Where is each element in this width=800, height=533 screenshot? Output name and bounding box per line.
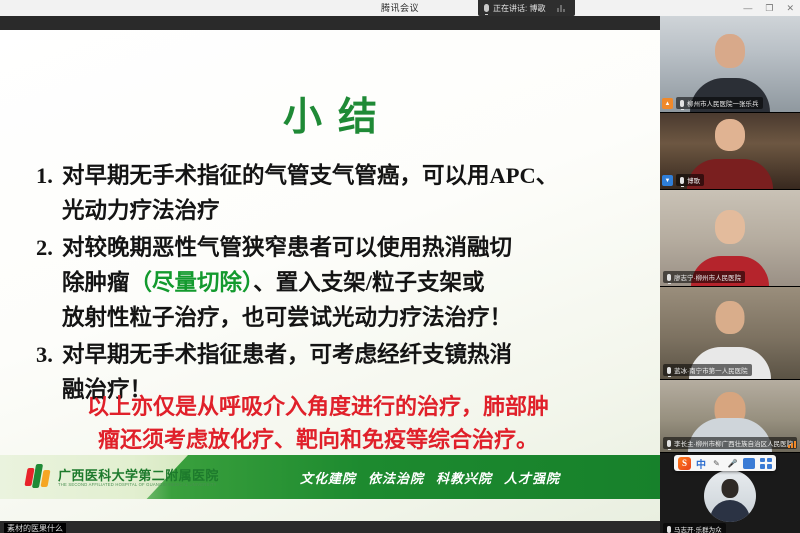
close-button[interactable]: ✕ [786,0,794,16]
participant-head [716,301,745,334]
bullet-line: 光动力疗法治疗 [62,193,610,228]
bullet-line: 对早期无手术指征的气管支气管癌，可以用APC、 [62,158,610,193]
bullet-line: 除肿瘤（尽量切除）、置入支架/粒子支架或 [62,265,610,300]
plain-text: 对较晚期恶性气管狭窄患者可以使用热消融切 [62,235,512,260]
screen-share-area: 小结 1.对早期无手术指征的气管支气管癌，可以用APC、光动力疗法治疗2.对较晚… [0,16,660,533]
plain-text: 光动力疗法治疗 [62,198,220,223]
participant-tile[interactable]: 廖志宁·柳州市人民医院 [660,189,800,286]
bullet-number: 1. [36,158,62,228]
microphone-icon [667,526,671,533]
participant-tile[interactable]: ▼博歌 [660,112,800,189]
network-signal-icon [788,441,796,448]
audio-wave-icon [557,4,565,12]
microphone-icon [667,367,671,374]
bullet-line: 放射性粒子治疗，也可尝试光动力疗法治疗！ [62,300,610,335]
highlighted-text: （尽量切除） [130,270,254,295]
window-controls: — ❐ ✕ [743,0,794,16]
ime-mic-icon[interactable]: 🎤 [727,458,738,469]
participant-tile[interactable]: ▲柳州市人民医院一张乐兵 [660,16,800,112]
participant-name-bar: 李长主·柳州市柳广西壮族自治区人民医院 [663,437,797,449]
active-speaker-label: 正在讲话: 博歌 [493,3,545,14]
participant-name: 廖志宁·柳州市人民医院 [674,272,741,282]
participant-name: 蓝冰·南宁市第一人民医院 [674,365,748,375]
plain-text: 对早期无手术指征患者，可考虑经纤支镜热消 [62,342,512,367]
ime-toolbar[interactable]: S中✎🎤 [674,455,776,471]
participant-name-bar: 廖志宁·柳州市人民医院 [663,271,745,283]
bullet-line: 对较晚期恶性气管狭窄患者可以使用热消融切 [62,230,610,265]
slogan-phrase: 文化建院 [300,471,356,486]
participant-name-bar: 博歌 [676,174,704,186]
hospital-logo-icon [26,464,52,490]
slide-footer-banner: 广西医科大学第二附属医院 THE SECOND AFFILIATED HOSPI… [0,455,660,499]
plain-text: 放射性粒子治疗，也可尝试光动力疗法治疗！ [62,305,512,330]
slide-title: 小结 [0,86,660,142]
participant-tile[interactable]: 李长主·柳州市柳广西壮族自治区人民医院 [660,379,800,452]
ime-mode-button[interactable]: 中 [696,456,706,471]
window-titlebar: 腾讯会议 正在讲话: 博歌 — ❐ ✕ [0,0,800,16]
conclusion-line-1: 以上亦仅是从呼吸介入角度进行的治疗，肺部肿 [40,390,596,423]
slogan-phrase: 科教兴院 [436,471,492,486]
slide-bullet-item: 1.对早期无手术指征的气管支气管癌，可以用APC、光动力疗法治疗 [36,158,610,228]
active-speaker-chip: 正在讲话: 博歌 [478,0,575,16]
keyboard-icon[interactable] [743,458,755,469]
minimize-button[interactable]: — [743,0,752,16]
hospital-name-en: THE SECOND AFFILIATED HOSPITAL OF GUANGX… [58,482,217,487]
apps-icon[interactable] [760,458,772,469]
microphone-icon [667,440,671,447]
participant-tile[interactable]: S中✎🎤马志开·乐群为众 [660,452,800,533]
plain-text: 、置入支架/粒子支架或 [253,270,484,295]
avatar [704,470,756,522]
participant-head [715,34,745,68]
participant-name: 柳州市人民医院一张乐兵 [687,98,759,108]
ime-tools-icon[interactable]: ✎ [711,458,722,469]
microphone-icon [680,100,684,107]
microphone-icon [680,177,684,184]
bullet-text: 对早期无手术指征的气管支气管癌，可以用APC、光动力疗法治疗 [62,158,610,228]
participant-name-bar: 蓝冰·南宁市第一人民医院 [663,364,752,376]
participant-head [715,119,745,151]
bullet-text: 对较晚期恶性气管狭窄患者可以使用热消融切除肿瘤（尽量切除）、置入支架/粒子支架或… [62,230,610,335]
participant-name: 李长主·柳州市柳广西壮族自治区人民医院 [674,438,793,448]
slogan-phrase: 依法治院 [368,471,424,486]
slide-bullet-list: 1.对早期无手术指征的气管支气管癌，可以用APC、光动力疗法治疗2.对较晚期恶性… [36,158,610,409]
participant-name: 马志开·乐群为众 [674,524,722,533]
participant-name-bar: 马志开·乐群为众 [663,523,726,533]
slide-bullet-item: 2.对较晚期恶性气管狭窄患者可以使用热消融切除肿瘤（尽量切除）、置入支架/粒子支… [36,230,610,335]
participant-name-bar: 柳州市人民医院一张乐兵 [676,97,763,109]
slide-conclusion: 以上亦仅是从呼吸介入角度进行的治疗，肺部肿 瘤还须考虑放化疗、靶向和免疫等综合治… [40,390,596,456]
presentation-slide: 小结 1.对早期无手术指征的气管支气管癌，可以用APC、光动力疗法治疗2.对较晚… [0,30,660,521]
meeting-window: 腾讯会议 正在讲话: 博歌 — ❐ ✕ 小结 1.对早期无手术指征的气管支气管癌… [0,0,800,533]
sogou-logo-icon[interactable]: S [678,457,691,470]
participant-status-badge: ▼ [662,175,673,186]
participant-video-rail[interactable]: ▲柳州市人民医院一张乐兵▼博歌廖志宁·柳州市人民医院蓝冰·南宁市第一人民医院李长… [660,16,800,533]
plain-text: 除肿瘤 [62,270,130,295]
plain-text: 对早期无手术指征的气管支气管癌，可以用APC、 [62,163,558,188]
bullet-line: 对早期无手术指征患者，可考虑经纤支镜热消 [62,337,610,372]
microphone-icon [667,274,671,281]
participant-status-badge: ▲ [662,98,673,109]
app-title: 腾讯会议 [0,0,800,16]
share-bottom-caption: 素材的医果什么 [4,523,66,533]
bullet-number: 2. [36,230,62,335]
conclusion-line-2: 瘤还须考虑放化疗、靶向和免疫等综合治疗。 [40,423,596,456]
slogan-phrase: 人才强院 [504,471,560,486]
hospital-slogan: 文化建院依法治院科教兴院人才强院 [300,468,600,487]
participant-tile[interactable]: 蓝冰·南宁市第一人民医院 [660,286,800,379]
participant-head [715,210,745,244]
maximize-button[interactable]: ❐ [765,0,773,16]
microphone-icon [484,4,489,12]
participant-name: 博歌 [687,175,700,185]
